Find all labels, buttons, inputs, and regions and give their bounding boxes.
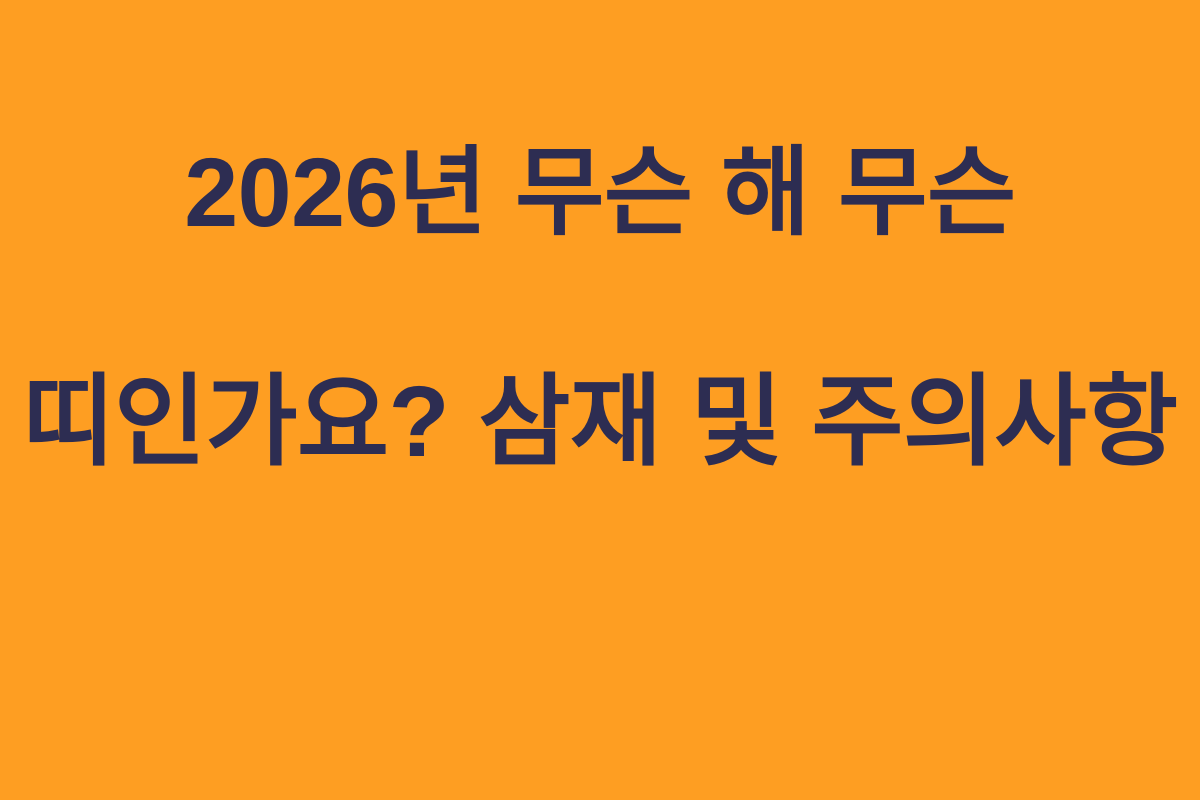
- page-title-line-1: 2026년 무슨 해 무슨: [10, 135, 1190, 250]
- page-title-line-2: 띠인가요? 삼재 및 주의사항: [10, 365, 1190, 480]
- page-title: 2026년 무슨 해 무슨 띠인가요? 삼재 및 주의사항: [10, 20, 1190, 595]
- title-card: 2026년 무슨 해 무슨 띠인가요? 삼재 및 주의사항: [0, 0, 1200, 800]
